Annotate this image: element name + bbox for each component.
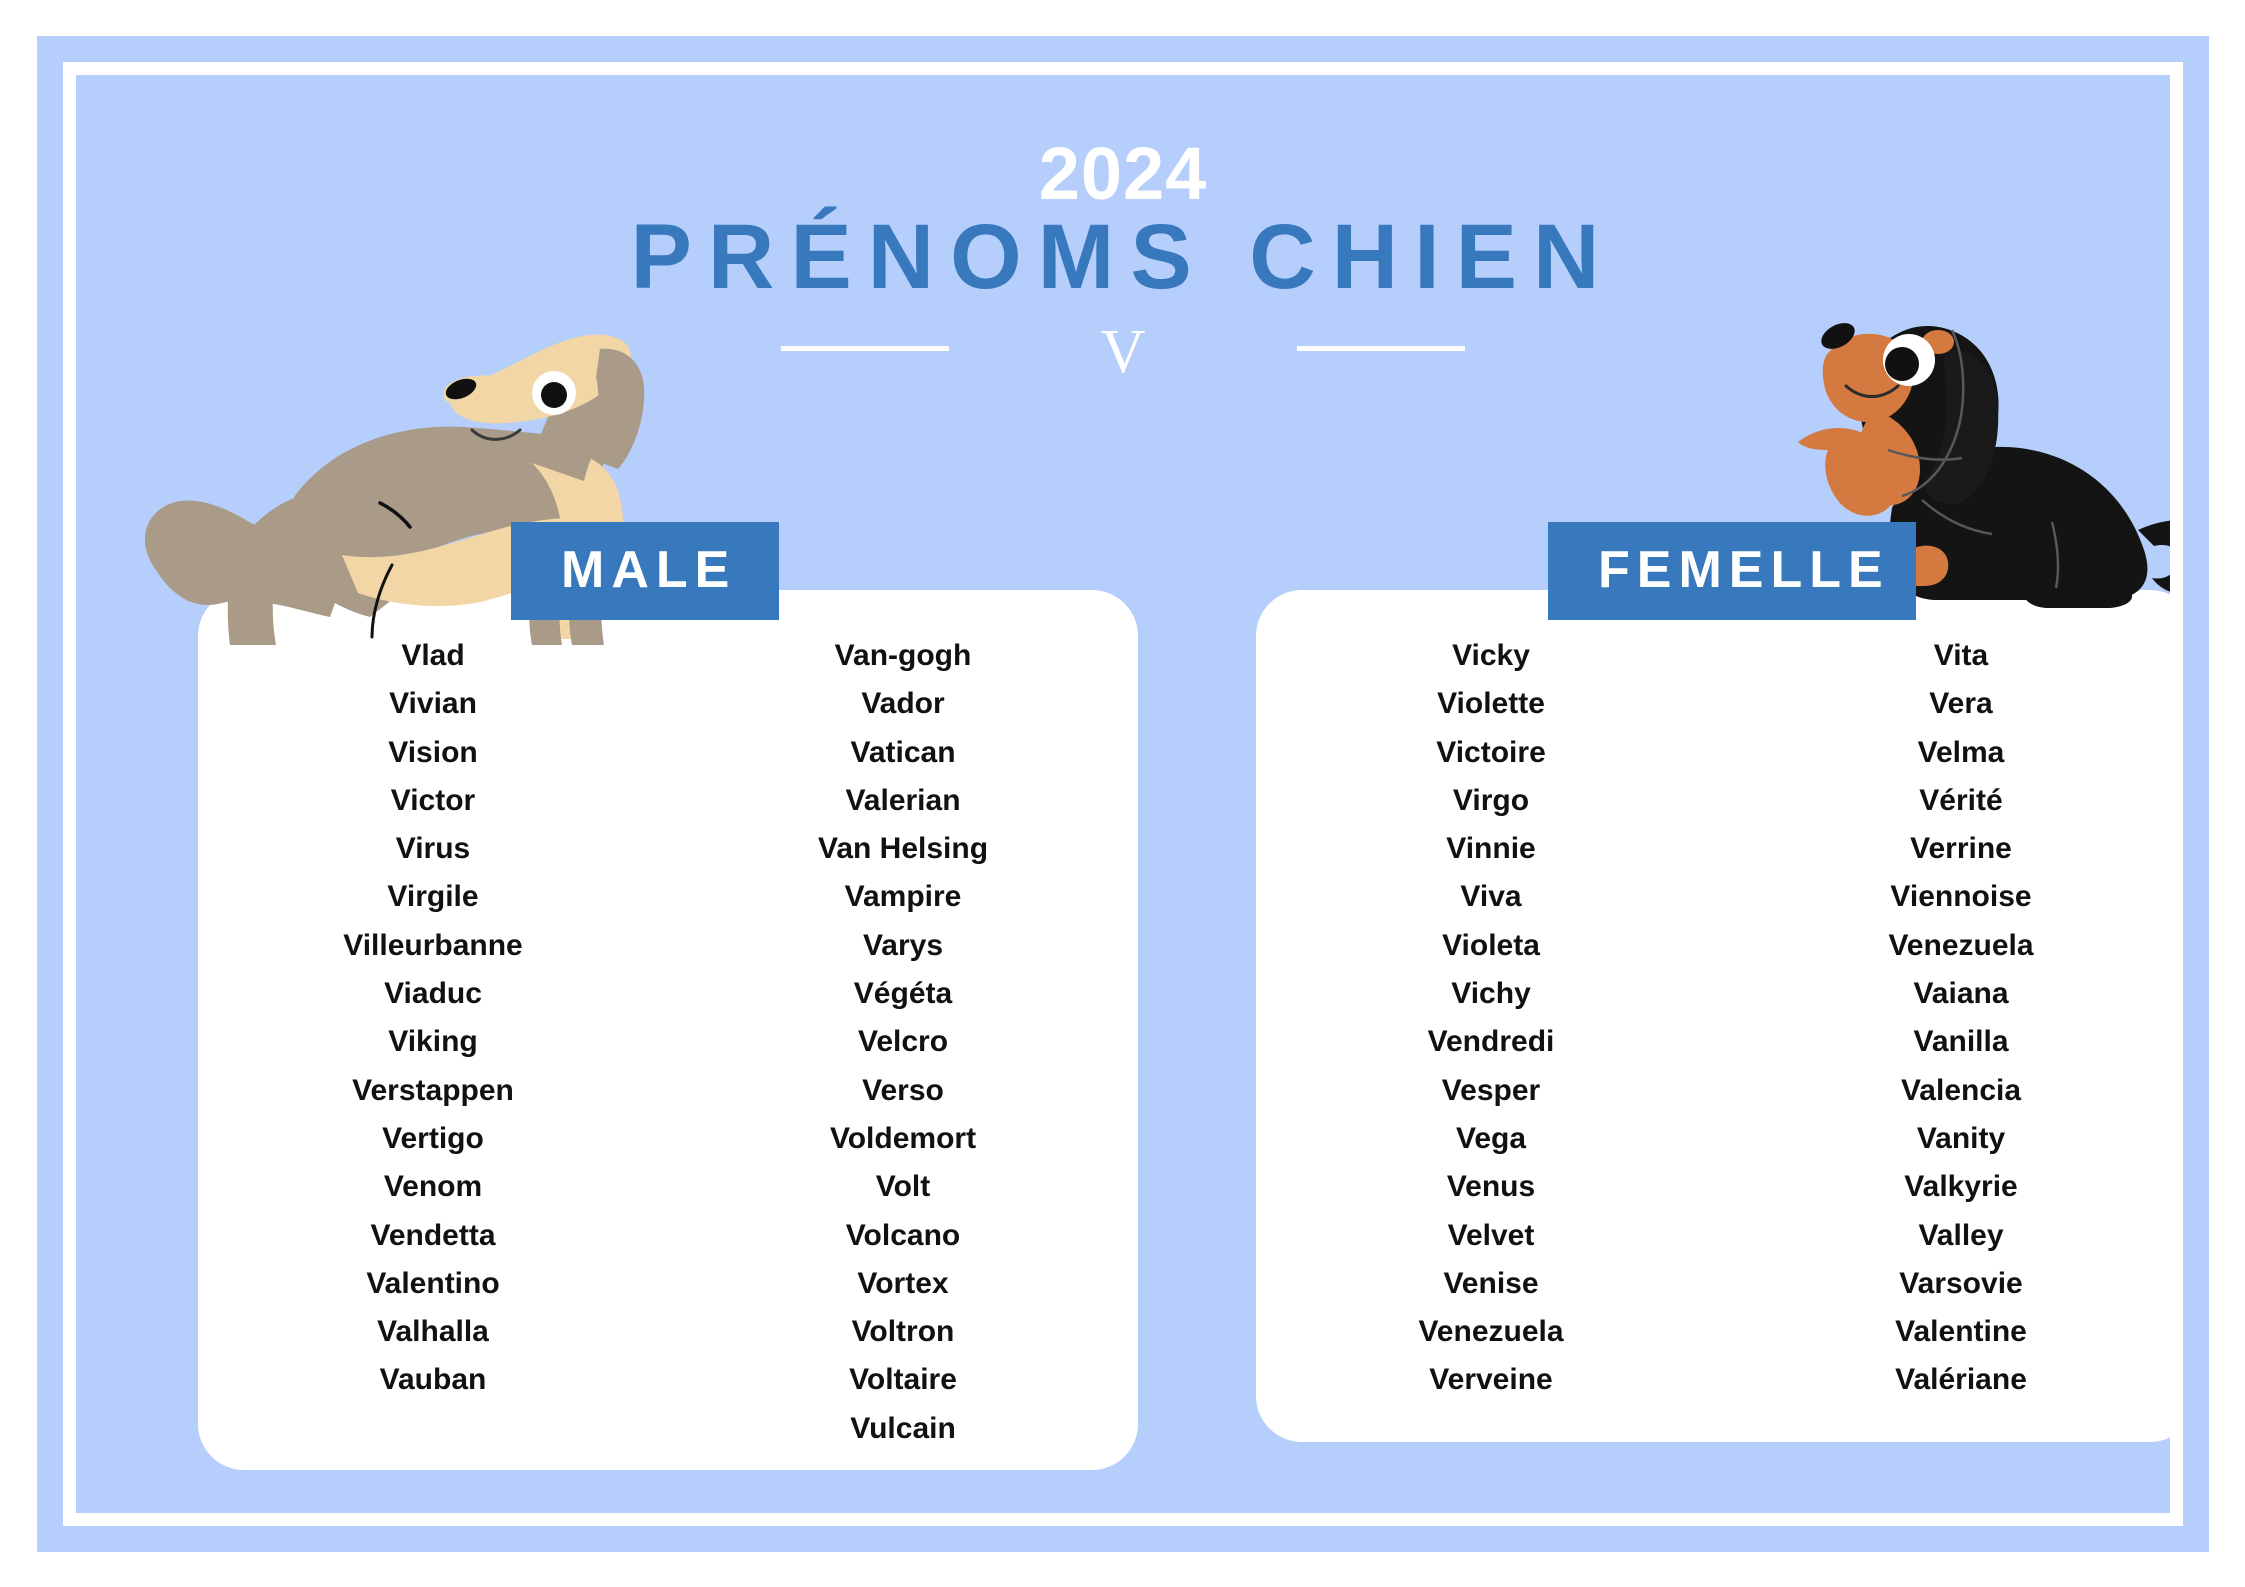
name-item: Verveine <box>1256 1356 1726 1404</box>
name-item: Velvet <box>1256 1212 1726 1260</box>
name-item: Verstappen <box>198 1067 668 1115</box>
name-item: Varsovie <box>1726 1260 2170 1308</box>
femelle-section-badge: FEMELLE <box>1548 522 1916 620</box>
name-item: Vanilla <box>1726 1018 2170 1066</box>
white-ring-frame: 2024 PRÉNOMS CHIEN V <box>63 62 2183 1526</box>
name-item: Victoire <box>1256 729 1726 777</box>
name-item: Voltron <box>668 1308 1138 1356</box>
male-names-card: VladVivianVisionVictorVirusVirgileVilleu… <box>198 590 1138 1470</box>
name-item: Victor <box>198 777 668 825</box>
femelle-names-card: VickyVioletteVictoireVirgoVinnieVivaViol… <box>1256 590 2170 1442</box>
name-item: Vesper <box>1256 1067 1726 1115</box>
name-item: Vision <box>198 729 668 777</box>
name-item: Varys <box>668 922 1138 970</box>
name-item: Venus <box>1256 1163 1726 1211</box>
name-item: Van Helsing <box>668 825 1138 873</box>
name-item: Venezuela <box>1256 1308 1726 1356</box>
name-item: Vendredi <box>1256 1018 1726 1066</box>
name-item: Valley <box>1726 1212 2170 1260</box>
poster-root: 2024 PRÉNOMS CHIEN V <box>0 0 2245 1587</box>
name-item: Valkyrie <box>1726 1163 2170 1211</box>
name-item: Viaduc <box>198 970 668 1018</box>
name-item: Venise <box>1256 1260 1726 1308</box>
divider-rule-left <box>781 346 949 351</box>
name-item: Valentine <box>1726 1308 2170 1356</box>
name-item: Vampire <box>668 873 1138 921</box>
name-item: Vauban <box>198 1356 668 1404</box>
name-item: Voltaire <box>668 1356 1138 1404</box>
divider-rule-right <box>1297 346 1465 351</box>
name-item: Vivian <box>198 680 668 728</box>
year-label: 2024 <box>76 131 2170 216</box>
letter-label: V <box>1101 321 1146 383</box>
name-item: Valhalla <box>198 1308 668 1356</box>
name-item: Valerian <box>668 777 1138 825</box>
name-item: Verrine <box>1726 825 2170 873</box>
name-item: Valériane <box>1726 1356 2170 1404</box>
name-item: Valencia <box>1726 1067 2170 1115</box>
name-item: Violette <box>1256 680 1726 728</box>
name-item: Velcro <box>668 1018 1138 1066</box>
name-item: Vera <box>1726 680 2170 728</box>
inner-blue-field: 2024 PRÉNOMS CHIEN V <box>76 75 2170 1513</box>
name-item: Verso <box>668 1067 1138 1115</box>
male-columns: VladVivianVisionVictorVirusVirgileVilleu… <box>198 632 1138 1453</box>
name-item: Vaiana <box>1726 970 2170 1018</box>
name-item: Viva <box>1256 873 1726 921</box>
name-item: Van-gogh <box>668 632 1138 680</box>
name-item: Vinnie <box>1256 825 1726 873</box>
name-item: Virgo <box>1256 777 1726 825</box>
name-item: Vador <box>668 680 1138 728</box>
name-item: Velma <box>1726 729 2170 777</box>
outer-frame: 2024 PRÉNOMS CHIEN V <box>37 36 2209 1552</box>
name-item: Voldemort <box>668 1115 1138 1163</box>
name-item: Virgile <box>198 873 668 921</box>
name-item: Vulcain <box>668 1405 1138 1453</box>
name-item: Villeurbanne <box>198 922 668 970</box>
name-item: Vanity <box>1726 1115 2170 1163</box>
femelle-column-1: VickyVioletteVictoireVirgoVinnieVivaViol… <box>1256 632 1726 1405</box>
name-item: Vega <box>1256 1115 1726 1163</box>
name-item: Vichy <box>1256 970 1726 1018</box>
name-item: Vérité <box>1726 777 2170 825</box>
name-item: Viennoise <box>1726 873 2170 921</box>
name-item: Venom <box>198 1163 668 1211</box>
name-item: Volcano <box>668 1212 1138 1260</box>
name-item: Virus <box>198 825 668 873</box>
name-item: Volt <box>668 1163 1138 1211</box>
name-item: Vicky <box>1256 632 1726 680</box>
name-item: Vatican <box>668 729 1138 777</box>
male-column-1: VladVivianVisionVictorVirusVirgileVilleu… <box>198 632 668 1453</box>
name-item: Vertigo <box>198 1115 668 1163</box>
male-column-2: Van-goghVadorVaticanValerianVan HelsingV… <box>668 632 1138 1453</box>
femelle-columns: VickyVioletteVictoireVirgoVinnieVivaViol… <box>1256 632 2170 1405</box>
name-item: Violeta <box>1256 922 1726 970</box>
name-item: Venezuela <box>1726 922 2170 970</box>
femelle-column-2: VitaVeraVelmaVéritéVerrineViennoiseVenez… <box>1726 632 2170 1405</box>
name-item: Végéta <box>668 970 1138 1018</box>
name-item: Viking <box>198 1018 668 1066</box>
name-item: Vendetta <box>198 1212 668 1260</box>
name-item: Vortex <box>668 1260 1138 1308</box>
male-section-badge: MALE <box>511 522 779 620</box>
name-item: Valentino <box>198 1260 668 1308</box>
